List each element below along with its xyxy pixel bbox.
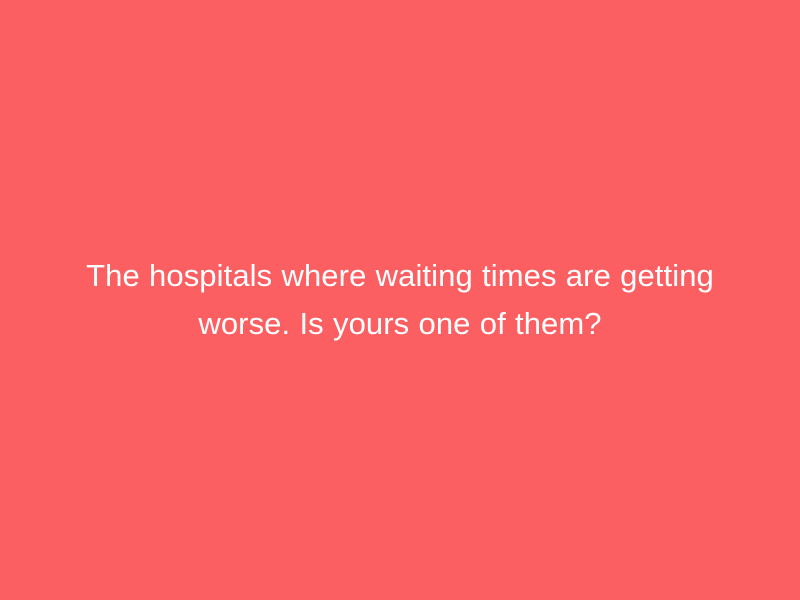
page-title: The hospitals where waiting times are ge… [84,252,716,348]
headline-card: The hospitals where waiting times are ge… [0,0,800,600]
headline-block: The hospitals where waiting times are ge… [50,252,750,348]
